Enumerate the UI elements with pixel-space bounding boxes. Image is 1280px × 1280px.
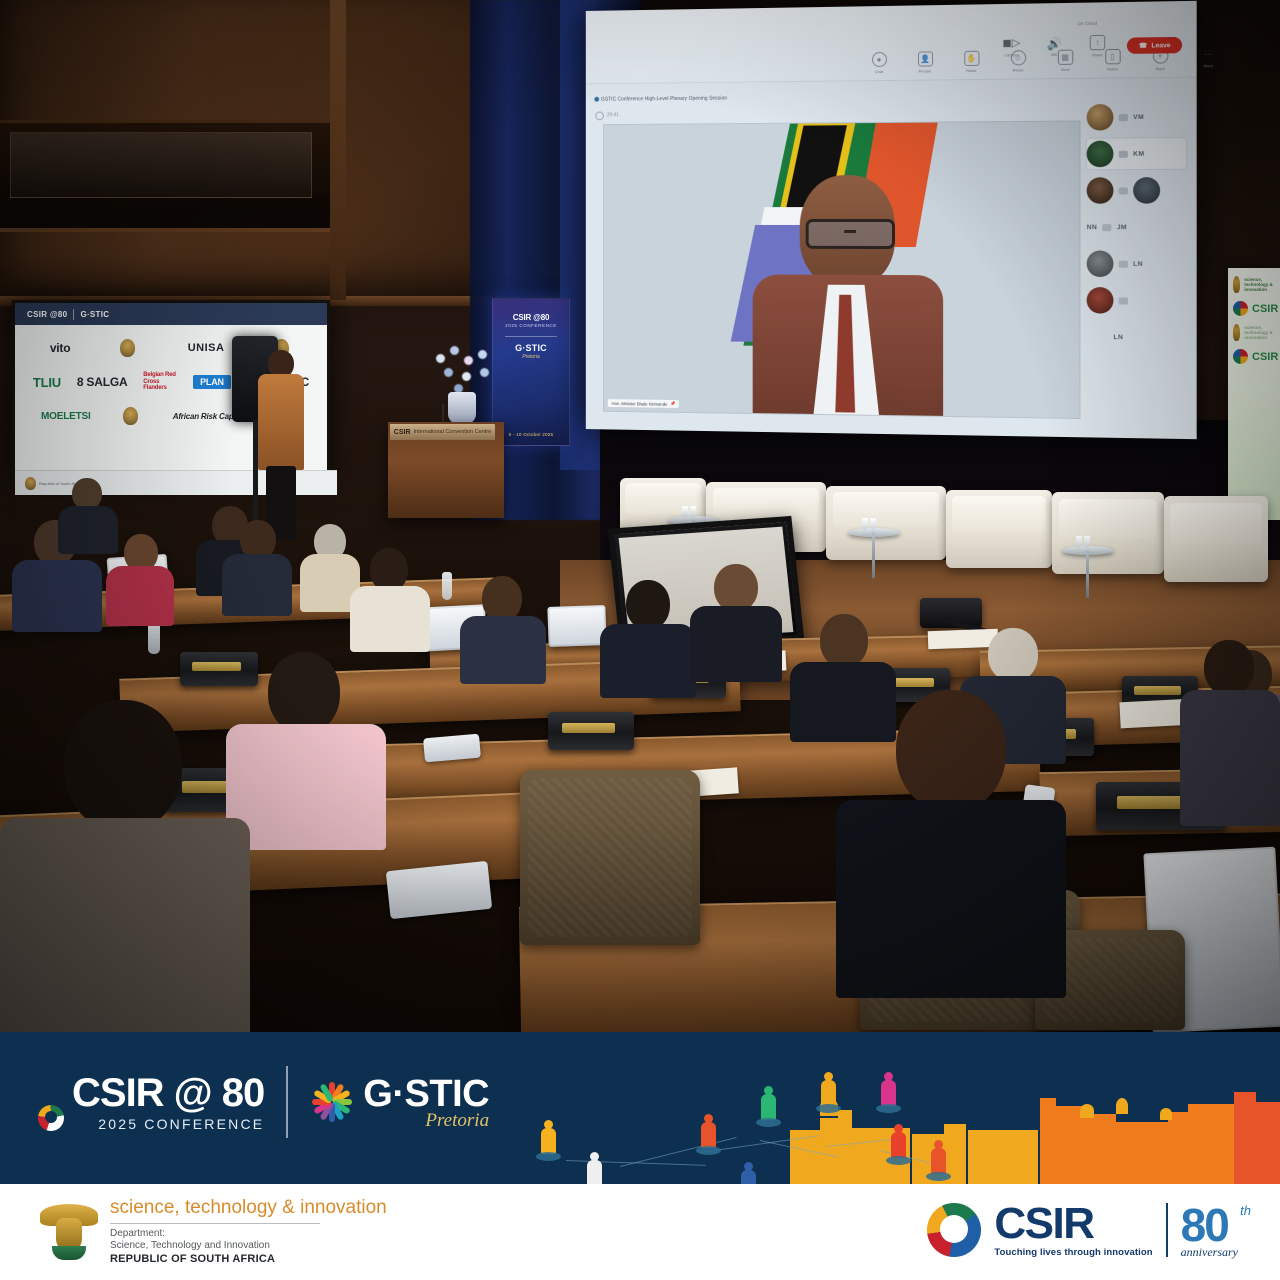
skyline-building xyxy=(1168,1112,1188,1184)
sponsor-screen-header: CSIR @80 G·STIC xyxy=(15,303,327,325)
sponsor-header-partner: G·STIC xyxy=(80,310,109,319)
water-glass xyxy=(870,518,876,530)
toolbar-label: Share xyxy=(1092,52,1103,57)
stage-armchair xyxy=(1164,496,1268,582)
water-bottle xyxy=(442,572,452,600)
rollup-row: CSIR xyxy=(1228,341,1280,364)
attendee xyxy=(106,534,174,624)
anniversary-label: anniversary xyxy=(1181,1246,1238,1258)
figure-body xyxy=(587,1160,602,1184)
mic-muted-icon xyxy=(1119,150,1128,157)
participant-initials: KM xyxy=(1133,150,1144,157)
avatar xyxy=(1133,177,1160,204)
anniversary-block: 80 th anniversary xyxy=(1181,1202,1238,1258)
rollup-line2-repeat: CSIR xyxy=(1252,351,1278,363)
microphone-icon: 🔊 xyxy=(1048,37,1061,50)
figure-platform xyxy=(876,1104,901,1113)
sa-coat-of-arms-icon xyxy=(1233,276,1240,293)
meeting-toolbar-right[interactable]: ◼▷ Camera 🔊 Mic ↑ Share ☎ xyxy=(998,34,1182,59)
venue-brand: CSIR xyxy=(394,429,411,436)
room-rollup-banner: science, technology & innovation CSIR sc… xyxy=(1228,268,1280,520)
sponsor-logo: TLIU xyxy=(33,375,61,390)
participant-initials: VM xyxy=(1133,113,1144,120)
camera-icon: ◼▷ xyxy=(1005,37,1018,50)
figure-body xyxy=(931,1148,946,1174)
participant-rail[interactable]: VM KM NN JM xyxy=(1087,101,1187,353)
meeting-timer: 29:41 xyxy=(607,112,619,118)
mic-muted-icon xyxy=(1119,187,1128,194)
venue-name: International Convention Centre xyxy=(414,429,492,435)
meeting-timer-icon xyxy=(595,111,604,120)
stage-sofa xyxy=(826,486,946,560)
csir-flower-icon xyxy=(927,1203,981,1257)
attendee-foreground xyxy=(0,700,250,1032)
dsi-crest-icon xyxy=(123,407,138,425)
participant-row[interactable] xyxy=(1087,175,1187,206)
rollup-line1-repeat: science, technology & innovation xyxy=(1244,325,1279,340)
balcony-glass xyxy=(10,132,312,198)
table-leg xyxy=(1086,550,1089,598)
avatar xyxy=(1087,287,1114,314)
main-projection-screen: On Cloud ● Chat 👤 People ✋ Raise xyxy=(586,1,1197,439)
toolbar-button-share[interactable]: ↑ Share xyxy=(1084,35,1111,58)
meeting-toolbar-bar: On Cloud ● Chat 👤 People ✋ Raise xyxy=(586,1,1197,84)
figure-body xyxy=(891,1132,906,1158)
speaker-name: Hon. Minister Blade Nzimande xyxy=(612,401,668,407)
speaker-figure xyxy=(749,175,947,416)
chat-icon: ● xyxy=(872,52,887,67)
anniversary-ordinal: th xyxy=(1240,1204,1251,1217)
band-logo-lockup: CSIR @ 80 2025 CONFERENCE G·STIC Pretori… xyxy=(38,1066,489,1138)
conference-branding-band: CSIR @ 80 2025 CONFERENCE G·STIC Pretori… xyxy=(0,1032,1280,1184)
mic-muted-icon xyxy=(1119,297,1128,304)
conference-photo: CSIR @80 G·STIC vito UNISA TLIU 8 SALGA … xyxy=(0,0,1280,1032)
active-speaker-tile[interactable]: Hon. Minister Blade Nzimande 📌 xyxy=(603,121,1081,419)
toolbar-button-raise[interactable]: ✋ Raise xyxy=(958,51,984,73)
banner-title: CSIR @80 xyxy=(513,313,549,322)
toolbar-button-people[interactable]: 👤 People xyxy=(912,51,938,73)
sa-coat-of-arms-icon xyxy=(25,477,36,490)
csir80-lockup: CSIR @ 80 2025 CONFERENCE xyxy=(38,1073,264,1131)
avatar xyxy=(1087,177,1114,203)
audience-chair xyxy=(520,770,700,945)
csir80-subtitle: 2025 CONFERENCE xyxy=(72,1117,264,1131)
attendee xyxy=(226,652,386,842)
sponsor-logo: Belgian Red Cross Flanders xyxy=(143,372,177,392)
participant-row[interactable]: VM xyxy=(1087,101,1187,132)
sponsor-logo: 8 SALGA xyxy=(77,375,128,389)
figure-platform xyxy=(886,1156,911,1165)
dsti-text: science, technology & innovation Departm… xyxy=(110,1198,387,1265)
toolbar-label: Mic xyxy=(1051,52,1057,57)
participant-initials: LN xyxy=(1133,260,1143,267)
partner-footer: science, technology & innovation Departm… xyxy=(0,1184,1280,1280)
people-icon: 👤 xyxy=(918,51,933,66)
water-glass xyxy=(1084,536,1090,548)
csir-flower-icon xyxy=(38,1105,64,1131)
toolbar-label: Camera xyxy=(1004,52,1018,57)
sponsor-header-brand: CSIR @80 xyxy=(27,310,67,319)
toolbar-label: View xyxy=(1061,67,1070,72)
attendee xyxy=(350,548,430,648)
mic-muted-icon xyxy=(1119,260,1128,267)
sponsor-header-divider xyxy=(73,309,74,320)
csir-mark-icon xyxy=(1233,301,1248,316)
anniversary-number: 80 xyxy=(1181,1199,1228,1251)
figure-platform xyxy=(926,1172,951,1181)
dsti-dept-label: Department: xyxy=(110,1228,387,1241)
figure-platform xyxy=(816,1104,841,1113)
toolbar-label: More xyxy=(1203,63,1213,68)
participant-row[interactable]: LN xyxy=(1087,248,1187,279)
avatar xyxy=(1087,141,1114,168)
stage-sofa xyxy=(1052,492,1164,574)
banner-divider xyxy=(505,336,557,337)
skyline-building xyxy=(1090,1114,1116,1184)
laptop[interactable] xyxy=(547,605,606,647)
skyline-building xyxy=(1040,1098,1056,1184)
sponsor-logo: MOELETSI xyxy=(41,411,91,422)
skyline-dome xyxy=(1080,1104,1094,1118)
figure-body xyxy=(541,1128,556,1154)
smartphone[interactable] xyxy=(423,734,481,763)
toolbar-label: Apps xyxy=(1155,66,1164,71)
wood-column xyxy=(330,0,346,300)
toolbar-button-camera[interactable]: ◼▷ Camera xyxy=(998,37,1024,58)
leave-meeting-button[interactable]: ☎ Leave xyxy=(1127,37,1182,54)
figure-body xyxy=(701,1122,716,1148)
table-leg xyxy=(872,532,875,578)
dsti-country: REPUBLIC OF SOUTH AFRICA xyxy=(110,1253,387,1265)
skyline-building xyxy=(820,1118,838,1184)
dsti-logo: science, technology & innovation Departm… xyxy=(40,1198,387,1265)
banner-dates: 8 - 10 October 2025 xyxy=(509,432,554,437)
sponsor-logo: UNISA xyxy=(188,342,225,354)
toolbar-button-chat[interactable]: ● Chat xyxy=(866,52,892,74)
figure-body xyxy=(881,1080,896,1106)
pin-icon: 📌 xyxy=(670,401,675,407)
meeting-window-title: GSTIC Conference High-Level Plenary Open… xyxy=(601,96,727,103)
water-glass xyxy=(682,506,688,518)
dsti-dept-name: Science, Technology and Innovation xyxy=(110,1240,387,1253)
avatar xyxy=(1087,104,1114,131)
host-jacket xyxy=(258,374,304,470)
water-glass xyxy=(862,518,868,530)
figure-body xyxy=(741,1170,756,1184)
attendee-foreground xyxy=(836,690,1066,990)
banner-subtitle: 2025 CONFERENCE xyxy=(505,323,557,328)
raise-hand-icon: ✋ xyxy=(964,51,979,66)
screenshot-root: CSIR @80 G·STIC vito UNISA TLIU 8 SALGA … xyxy=(0,0,1280,1280)
video-meeting-window: On Cloud ● Chat 👤 People ✋ Raise xyxy=(586,1,1197,439)
toolbar-button-more[interactable]: ⋯ More xyxy=(1195,48,1222,69)
attendee xyxy=(690,564,782,676)
csir-tagline: Touching lives through innovation xyxy=(994,1248,1152,1258)
figure-body xyxy=(821,1080,836,1106)
rollup-row: science, technology & innovation xyxy=(1228,316,1280,341)
band-divider xyxy=(286,1066,288,1138)
rollup-row: CSIR xyxy=(1228,293,1280,316)
rollup-line1: science, technology & innovation xyxy=(1244,277,1279,292)
share-screen-icon: ↑ xyxy=(1090,35,1105,50)
sponsor-logo: vito xyxy=(50,341,71,355)
toolbar-label: Raise xyxy=(966,68,976,73)
water-glass xyxy=(690,506,696,518)
university-crest-icon xyxy=(120,339,135,357)
skyline-building xyxy=(838,1110,852,1184)
sa-coat-of-arms-icon xyxy=(1233,324,1240,341)
avatar xyxy=(1087,250,1114,277)
venue-sign: CSIR International Convention Centre xyxy=(390,424,495,440)
csir-wordmark: CSIR xyxy=(994,1202,1152,1246)
sponsor-logo: PLAN xyxy=(193,375,231,389)
attendee xyxy=(460,576,546,680)
participant-row[interactable]: NN JM xyxy=(1087,212,1187,243)
dsti-rule xyxy=(110,1223,320,1224)
rollup-line2: CSIR xyxy=(1252,303,1278,315)
skyline-building xyxy=(1234,1092,1256,1184)
skyline-building xyxy=(1256,1102,1280,1184)
csir-mark-icon xyxy=(1233,349,1248,364)
gstic-lockup: G·STIC Pretoria xyxy=(310,1075,489,1130)
more-icon: ⋯ xyxy=(1201,48,1215,61)
csir-80th-logo: CSIR Touching lives through innovation 8… xyxy=(927,1202,1238,1258)
csir80-title: CSIR @ 80 xyxy=(72,1073,264,1113)
participant-row[interactable] xyxy=(1087,285,1187,316)
csir-wordmark-block: CSIR Touching lives through innovation xyxy=(994,1202,1152,1258)
meeting-status-text: On Cloud xyxy=(1077,21,1097,26)
participant-row[interactable]: LN xyxy=(1087,322,1187,353)
skyline-dome xyxy=(1116,1098,1128,1114)
participant-initials: NN xyxy=(1087,224,1098,231)
stage-armchair xyxy=(946,490,1052,568)
dsti-headline: science, technology & innovation xyxy=(110,1198,387,1218)
toolbar-label: People xyxy=(919,68,932,73)
figure-body xyxy=(761,1094,776,1120)
figure-platform xyxy=(756,1118,781,1127)
skyline-building xyxy=(1116,1122,1168,1184)
flower-vase xyxy=(448,392,476,424)
skyline-building xyxy=(1188,1104,1234,1184)
figure-platform xyxy=(536,1152,561,1161)
footer-divider xyxy=(1166,1203,1168,1257)
csir80-text: CSIR @ 80 2025 CONFERENCE xyxy=(72,1073,264,1131)
sa-coat-of-arms-icon xyxy=(40,1200,98,1262)
figure-platform xyxy=(696,1146,721,1155)
mic-muted-icon xyxy=(1102,224,1111,231)
skyline-building xyxy=(968,1130,1038,1184)
participant-initials: LN xyxy=(1113,333,1123,340)
rollup-row: science, technology & innovation xyxy=(1228,268,1280,293)
attendee xyxy=(222,520,292,612)
interpretation-console[interactable] xyxy=(548,712,634,750)
speaker-nameplate: Hon. Minister Blade Nzimande 📌 xyxy=(608,399,679,408)
participant-row[interactable]: KM xyxy=(1087,138,1187,169)
leave-label: Leave xyxy=(1151,42,1170,49)
participant-initials: JM xyxy=(1117,224,1127,231)
attendee xyxy=(600,580,696,692)
banner-partner-city: Pretoria xyxy=(522,354,540,360)
toolbar-button-mic[interactable]: 🔊 Mic xyxy=(1041,36,1068,57)
toolbar-label: React xyxy=(1013,67,1024,72)
gstic-burst-icon xyxy=(310,1080,354,1124)
speaker-glasses xyxy=(806,219,895,249)
toolbar-label: Chat xyxy=(875,69,883,74)
phone-hangup-icon: ☎ xyxy=(1139,41,1147,49)
toolbar-label: Notes xyxy=(1107,66,1118,71)
banner-partner: G·STIC xyxy=(515,343,547,353)
meeting-title-icon xyxy=(594,97,599,102)
attendee xyxy=(1180,640,1280,820)
gstic-text: G·STIC Pretoria xyxy=(363,1075,489,1130)
water-glass xyxy=(1076,536,1082,548)
skyline-dome xyxy=(1160,1108,1172,1120)
mic-muted-icon xyxy=(1119,114,1128,121)
gstic-title: G·STIC xyxy=(363,1075,489,1113)
